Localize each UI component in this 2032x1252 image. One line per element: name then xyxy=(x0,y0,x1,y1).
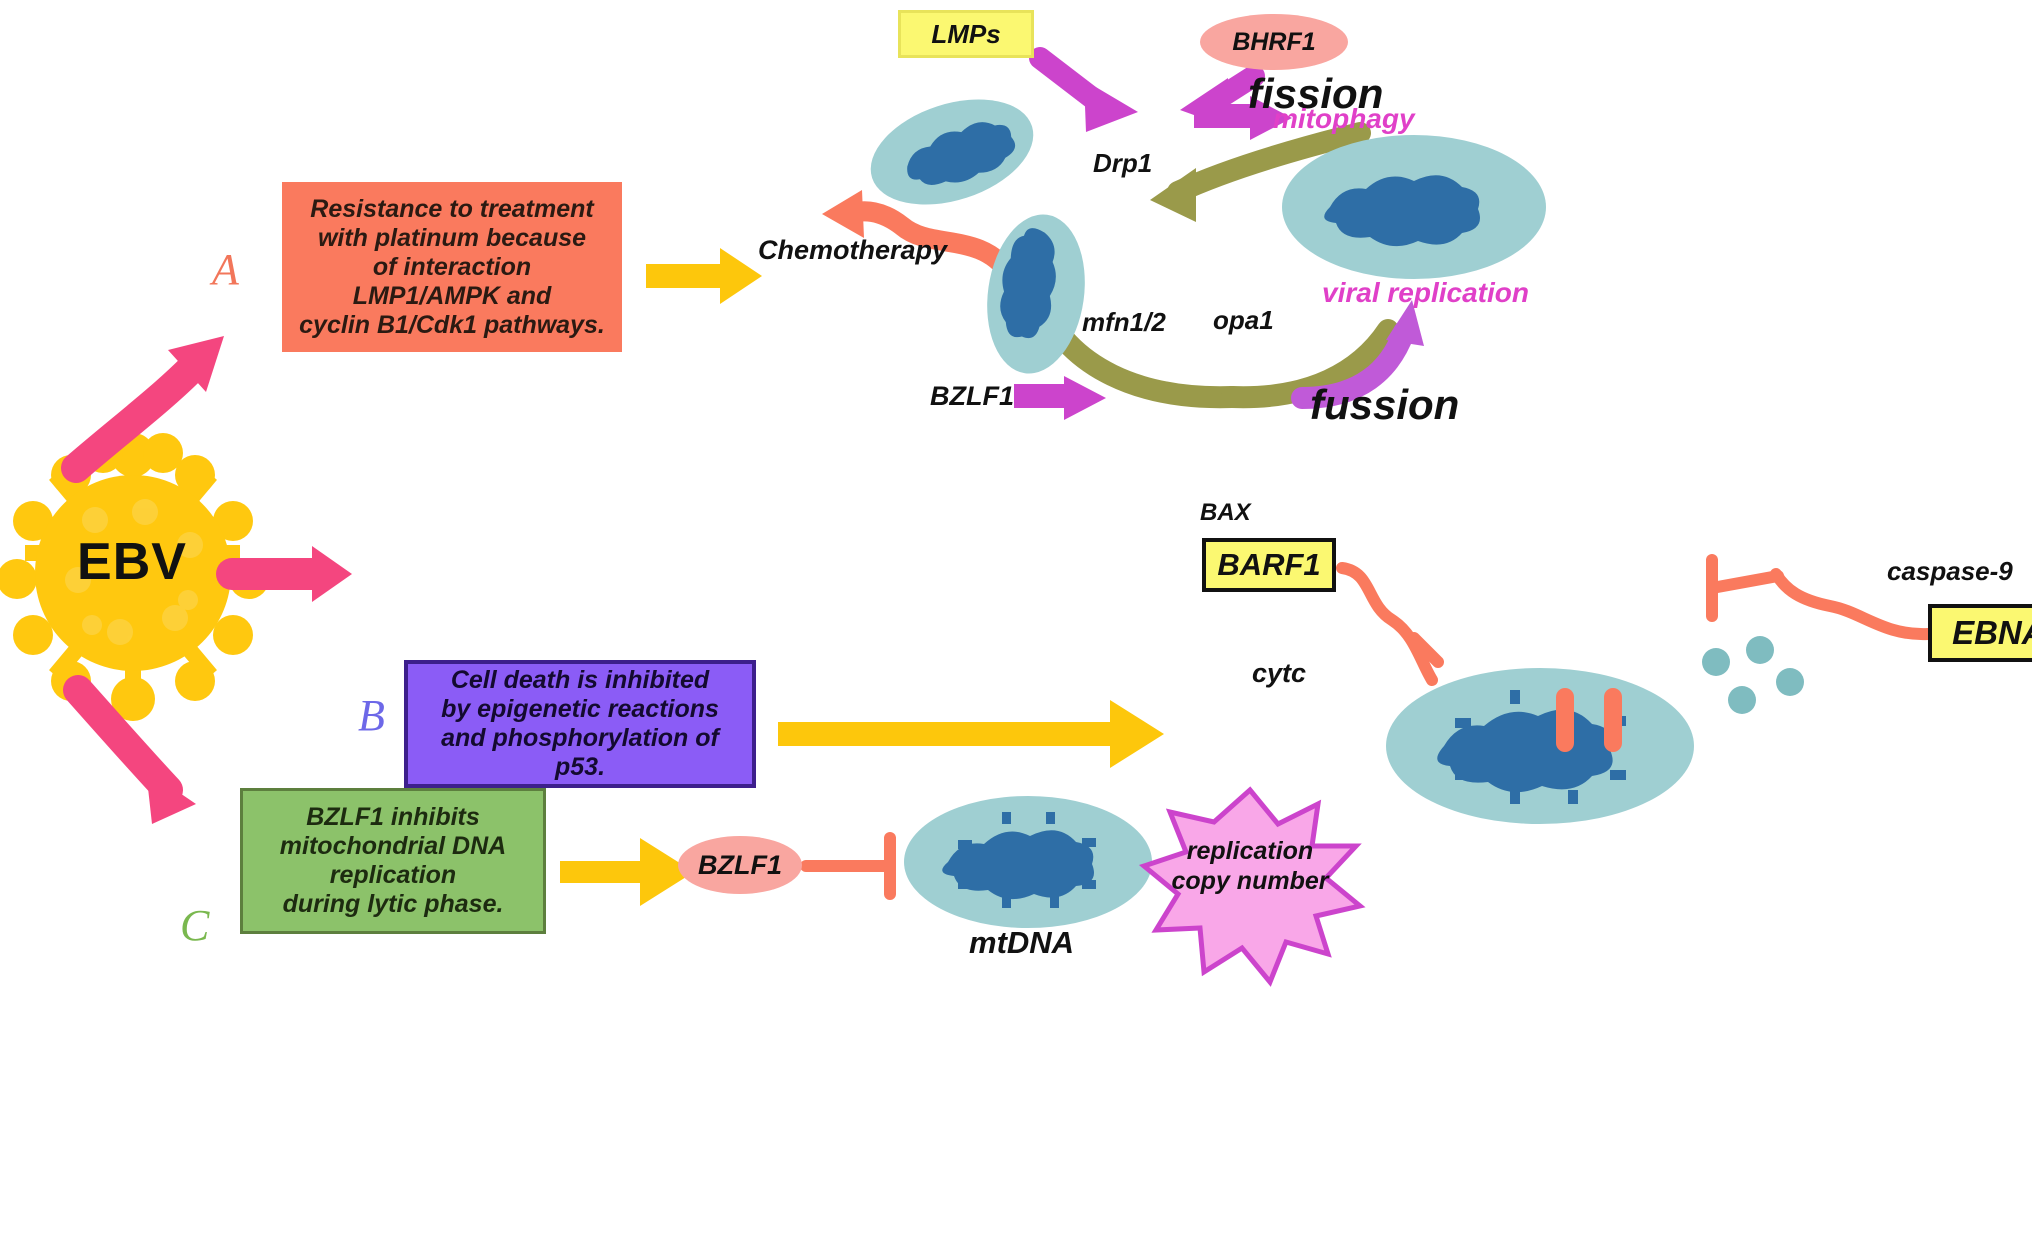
cytochrome-c-dots xyxy=(1702,636,1804,714)
mitochondrion-a3-large xyxy=(1282,135,1546,279)
panel-c-text-box: BZLF1 inhibits mitochondrial DNA replica… xyxy=(240,788,546,934)
barf1-inhibition-connector xyxy=(1342,568,1438,680)
panel-a-text-box: Resistance to treatment with platinum be… xyxy=(282,182,622,352)
opa1-label: opa1 xyxy=(1213,305,1274,336)
yellow-arrow-c xyxy=(560,838,694,906)
ebna1-tag: EBNA1 xyxy=(1928,604,2032,662)
mitochondrion-c-mtdna xyxy=(904,796,1152,928)
lmps-tag: LMPs xyxy=(898,10,1034,58)
bax-label: BAX xyxy=(1200,499,1251,527)
mfn1-2-label: mfn1/2 xyxy=(1082,307,1166,338)
yellow-arrow-a xyxy=(646,248,762,304)
mitochondrion-b xyxy=(1386,668,1694,824)
panel-letter-a: A xyxy=(212,244,239,295)
mtdna-label: mtDNA xyxy=(969,925,1074,961)
ebv-label: EBV xyxy=(58,532,206,592)
mitophagy-label: mitophagy xyxy=(1273,103,1415,135)
mitochondrion-a1 xyxy=(857,80,1046,223)
panel-b-text-box: Cell death is inhibited by epigenetic re… xyxy=(404,660,756,788)
bzlf1-label-panel-a: BZLF1 xyxy=(930,381,1014,412)
yellow-arrow-b xyxy=(778,700,1164,768)
figure-canvas: EBV A B C Resistance to treatment with p… xyxy=(0,0,2032,1252)
bhrf1-tag: BHRF1 xyxy=(1200,14,1348,70)
barf1-tag: BARF1 xyxy=(1202,538,1336,592)
lmps-to-fission-arrow xyxy=(1040,58,1138,132)
drp1-label: Drp1 xyxy=(1093,148,1152,179)
viral-replication-label: viral replication xyxy=(1322,277,1529,309)
chemotherapy-label: Chemotherapy xyxy=(758,235,947,266)
starburst-label: replication copy number xyxy=(1155,836,1345,896)
bzlf1-tag-panel-c: BZLF1 xyxy=(678,836,802,894)
cytc-label: cytc xyxy=(1252,658,1306,689)
bzlf1-inhibition-connector xyxy=(806,838,890,894)
bzlf1-to-fussion-arrow xyxy=(1014,376,1106,420)
panel-letter-b: B xyxy=(358,690,385,741)
panel-letter-c: C xyxy=(180,900,209,951)
caspase-9-label: caspase-9 xyxy=(1887,556,2013,587)
fussion-label: fussion xyxy=(1310,381,1459,429)
